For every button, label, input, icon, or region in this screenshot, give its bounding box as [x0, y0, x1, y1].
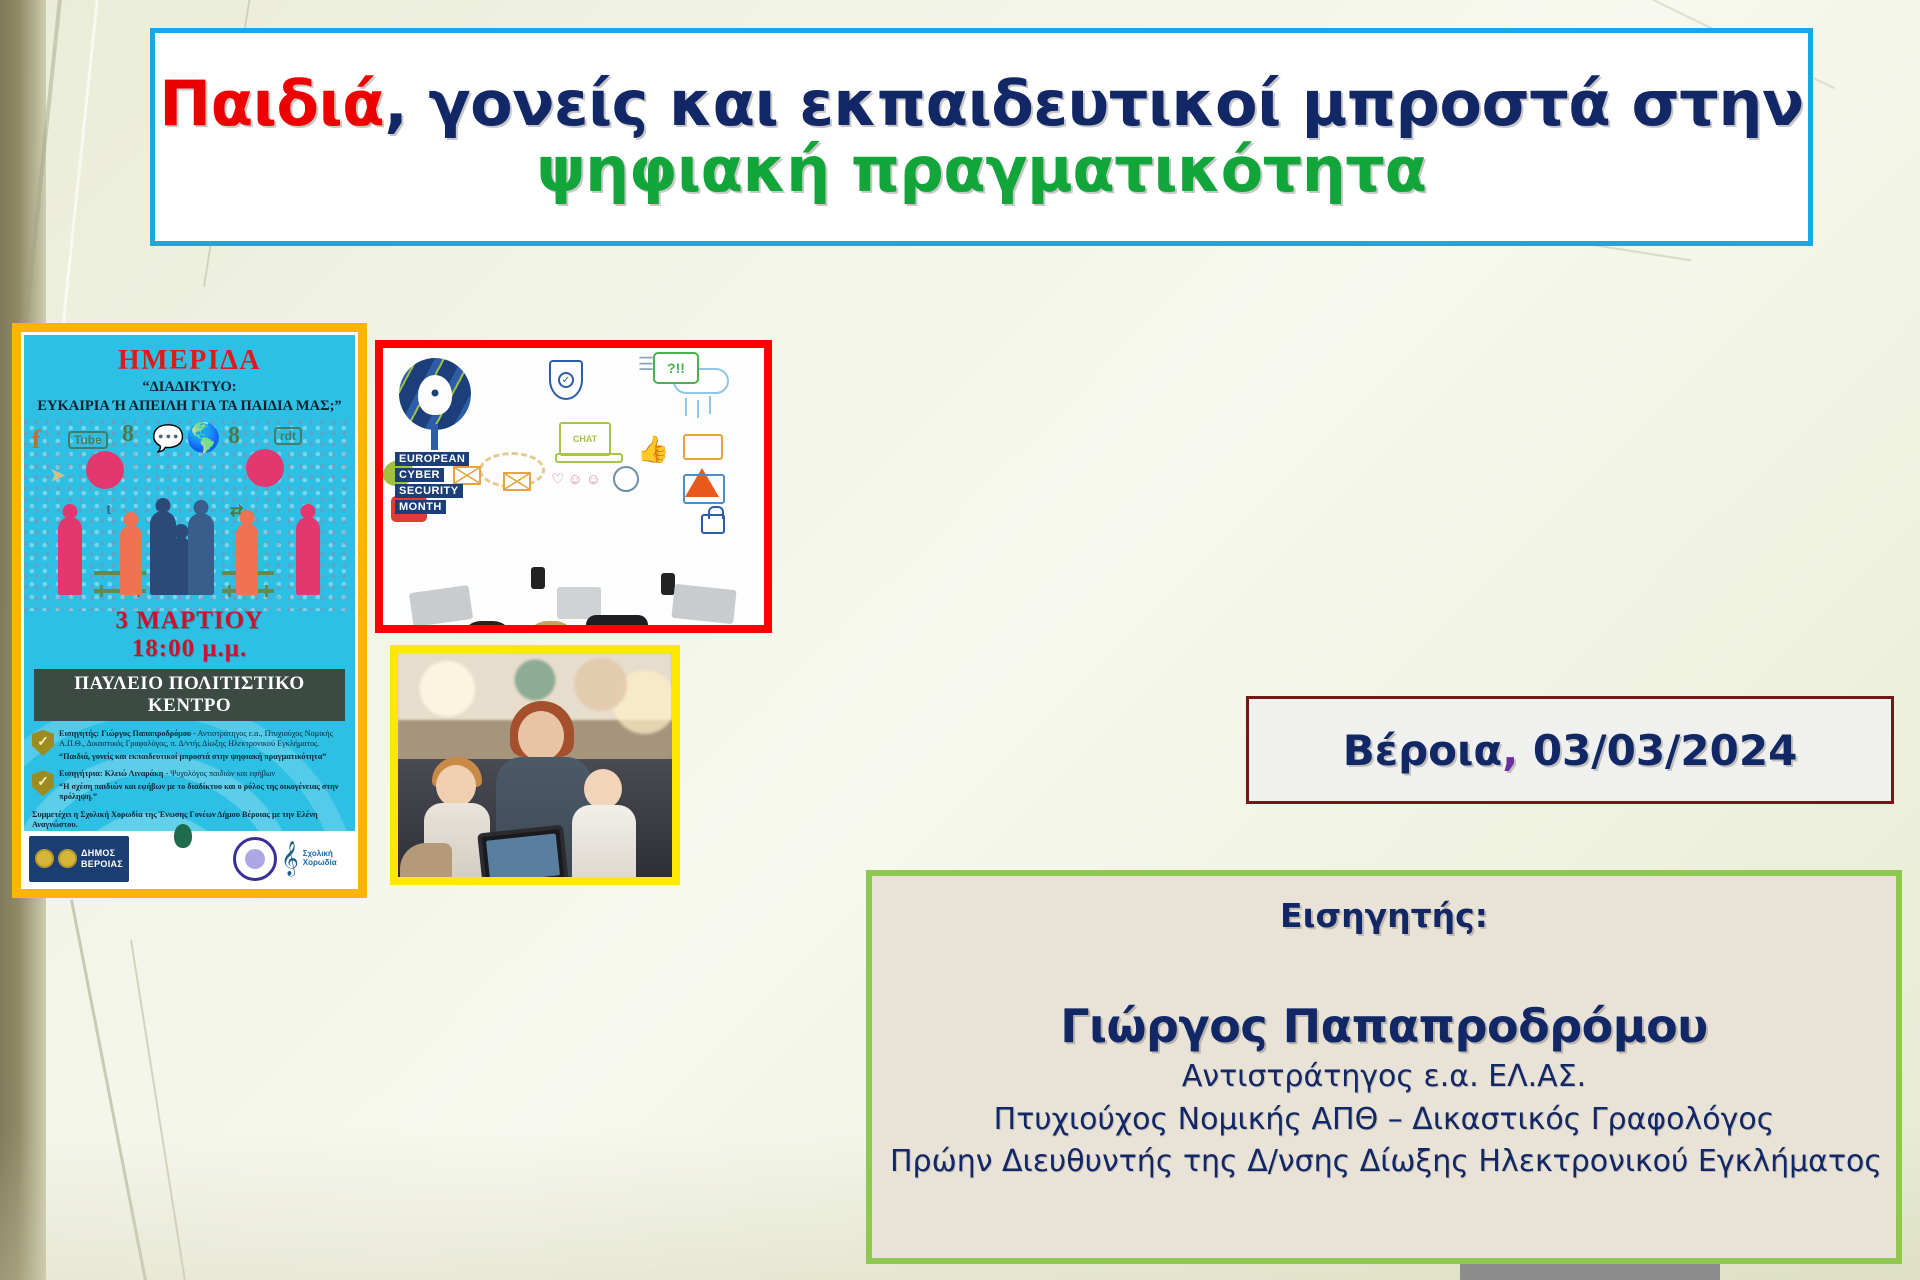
municipality-logo-line-2: ΒΕΡΟΙΑΣ [81, 859, 123, 869]
poster-speaker-2-topic: “Η σχέση παιδιών και εφήβων με το διαδίκ… [59, 782, 347, 803]
parents-union-seal-logo [233, 837, 277, 881]
title-line-2: ψηφιακή πραγματικότητα [536, 137, 1426, 203]
person-silhouette [236, 523, 258, 595]
twitter-icon: ➤ [50, 465, 65, 486]
event-city: Βέροια [1343, 726, 1503, 775]
poster-speakers: ✓ Εισηγητής: Γιώργος Παπαπροδρόμου - Αντ… [24, 721, 355, 810]
title-rest-line-1: , γονείς και εκπαιδευτικοί μπροστά στην [384, 67, 1803, 140]
tablet-device [477, 825, 569, 877]
speaker-info-box: Εισηγητής: Γιώργος Παπαπροδρόμου Αντιστρ… [866, 870, 1902, 1264]
choir-logo-line-2: Χορωδία [303, 858, 337, 867]
mother-head [518, 711, 564, 761]
poster-collage-illustration: f Tube 8 💬 🌎 8 ➤ rdt t ⇄ [24, 419, 355, 611]
tumblr-icon: t [106, 501, 111, 519]
speaker-label: Εισηγητής: [890, 896, 1878, 935]
ecsm-wordmark: EUROPEAN CYBER SECURITY MONTH [395, 452, 469, 516]
family-photo [390, 645, 680, 885]
title-highlight-word: Παιδιά [159, 67, 384, 140]
choir-logo-text: Σχολική Χορωδία [303, 850, 337, 868]
no-symbol-icon [246, 449, 284, 487]
phone-device [531, 567, 545, 589]
poster-speaker-1-topic: “Παιδιά, γονείς και εκπαιδευτικοί μπροστ… [59, 752, 347, 763]
poster-sheet: ΗΜΕΡΙΔΑ “ΔΙΑΔΙΚΤΥΟ: ΕΥΚΑΙΡΙΑ Ή ΑΠΕΙΛΗ ΓΙ… [24, 335, 355, 886]
poster-heading: ΗΜΕΡΙΔΑ [24, 345, 355, 377]
speaker-credential-2: Πτυχιούχος Νομικής ΑΠΘ – Δικαστικός Γραφ… [890, 1102, 1878, 1139]
check-shield-icon: ✓ [32, 730, 54, 756]
ecsm-word-cyber: CYBER [395, 468, 444, 482]
google-icon: 8 [228, 423, 240, 450]
check-shield-icon: ✓ [32, 770, 54, 796]
phone-device [661, 573, 675, 595]
coin-icon [35, 849, 54, 868]
thumbs-up-icon: 👍 [637, 434, 669, 465]
hat-icon [586, 615, 648, 625]
poster-speaker-2-name: Κλειώ Λιναράκη [105, 769, 164, 778]
security-shield-icon: ✓ [549, 360, 583, 400]
coin-icon [58, 849, 77, 868]
poster-speaker-2: ✓ Εισηγήτρια: Κλειώ Λιναράκη - Ψυχολόγος… [32, 769, 347, 803]
google-icon: 8 [122, 421, 134, 448]
cyber-security-photo: EUROPEAN CYBER SECURITY MONTH ✓ ☰ ?!! CH… [375, 340, 772, 633]
check-mark-icon: ✓ [558, 372, 574, 388]
child-1-head [436, 765, 476, 807]
no-symbol-icon [86, 451, 124, 489]
poster-speaker-1-role: Εισηγητής: [59, 729, 99, 738]
poster-subtitle-line-2: ΕΥΚΑΙΡΙΑ Ή ΑΠΕΙΛΗ ΓΙΑ ΤΑ ΠΑΙΔΙΑ ΜΑΣ;” [24, 398, 355, 415]
municipality-logo-line-1: ΔΗΜΟΣ [81, 848, 115, 858]
speaker-credential-1: Αντιστράτηγος ε.α. ΕΛ.ΑΣ. [890, 1059, 1878, 1096]
slide-title-box: Παιδιά, γονείς και εκπαιδευτικοί μπροστά… [150, 28, 1813, 246]
background-stripe [58, 0, 105, 358]
poster-header: ΗΜΕΡΙΔΑ “ΔΙΑΔΙΚΤΥΟ: ΕΥΚΑΙΡΙΑ Ή ΑΠΕΙΛΗ ΓΙ… [24, 335, 355, 415]
poster-speaker-1-name: Γιώργος Παπαπροδρόμου [101, 729, 191, 738]
laptop-device [671, 584, 736, 624]
ecsm-word-month: MONTH [395, 500, 446, 514]
ecsm-word-european: EUROPEAN [395, 452, 469, 466]
ecsm-logo-icon [399, 358, 471, 430]
event-date: 03/03/2024 [1518, 726, 1797, 775]
globe-bubble-icon: 🌎 [186, 421, 221, 454]
chat-laptop-icon: CHAT [559, 422, 611, 456]
poster-venue: ΠΑΥΛΕΙΟ ΠΟΛΙΤΙΣΤΙΚΟ ΚΕΝΤΡΟ [34, 669, 345, 721]
poster-date-block: 3 ΜΑΡΤΙΟΥ 18:00 μ.μ. [24, 607, 355, 663]
speaker-credential-3: Πρώην Διευθυντής της Δ/νσης Δίωξης Ηλεκτ… [890, 1144, 1878, 1181]
treble-clef-icon: 𝄞 [281, 844, 299, 874]
education-directorate-logo [183, 836, 229, 882]
municipality-logo: ΔΗΜΟΣ ΒΕΡΟΙΑΣ [29, 836, 129, 882]
title-line-1: Παιδιά, γονείς και εκπαιδευτικοί μπροστά… [159, 71, 1803, 137]
event-date-comma: , [1502, 726, 1518, 775]
facebook-icon: f [32, 425, 41, 455]
child-2-body [572, 805, 636, 877]
event-date-text: Βέροια, 03/03/2024 [1343, 726, 1798, 775]
person-hair [461, 621, 513, 625]
person-silhouette [58, 517, 82, 595]
question-bubble-icon: ?!! [653, 352, 699, 384]
speaker-name: Γιώργος Παπαπροδρόμου [890, 999, 1878, 1053]
poster-speaker-1: ✓ Εισηγητής: Γιώργος Παπαπροδρόμου - Αντ… [32, 729, 347, 763]
ecsm-logo-stem [431, 424, 438, 450]
person-hair [527, 621, 575, 625]
poster-date: 3 ΜΑΡΤΙΟΥ [24, 607, 355, 635]
pinwheel-logo [133, 836, 179, 882]
poster-speaker-2-bio: - Ψυχολόγος παιδιών και εφήβων [163, 769, 275, 778]
poster-subtitle-line-1: “ΔΙΑΔΙΚΤΥΟ: [24, 379, 355, 396]
event-poster: ΗΜΕΡΙΔΑ “ΔΙΑΔΙΚΤΥΟ: ΕΥΚΑΙΡΙΑ Ή ΑΠΕΙΛΗ ΓΙ… [12, 323, 367, 898]
youtube-icon: Tube [68, 431, 108, 449]
chat-bubble-icon: 💬 [152, 423, 184, 454]
reddit-icon: rdt [274, 427, 302, 445]
family-photo-inner [398, 653, 672, 877]
poster-speaker-2-role: Εισηγήτρια: [59, 769, 103, 778]
person-silhouette [296, 517, 320, 595]
wifi-icon: ☰ [638, 354, 654, 375]
poster-time: 18:00 μ.μ. [24, 635, 355, 663]
cyber-security-photo-inner: EUROPEAN CYBER SECURITY MONTH ✓ ☰ ?!! CH… [383, 348, 764, 625]
person-silhouette [120, 525, 142, 595]
poster-logo-strip: ΔΗΜΟΣ ΒΕΡΟΙΑΣ 𝄞 Σχολική Χορωδία [24, 831, 355, 886]
person-silhouette [188, 513, 214, 595]
child-2-head [584, 769, 622, 809]
choir-logo-line-1: Σχολική [303, 849, 333, 858]
event-date-box: Βέροια, 03/03/2024 [1246, 696, 1894, 804]
poster-white-margin: ΗΜΕΡΙΔΑ “ΔΙΑΔΙΚΤΥΟ: ΕΥΚΑΙΡΙΑ Ή ΑΠΕΙΛΗ ΓΙ… [21, 332, 358, 889]
laptop-device [409, 585, 473, 625]
ecsm-word-security: SECURITY [395, 484, 463, 498]
podium-icon [683, 434, 723, 460]
